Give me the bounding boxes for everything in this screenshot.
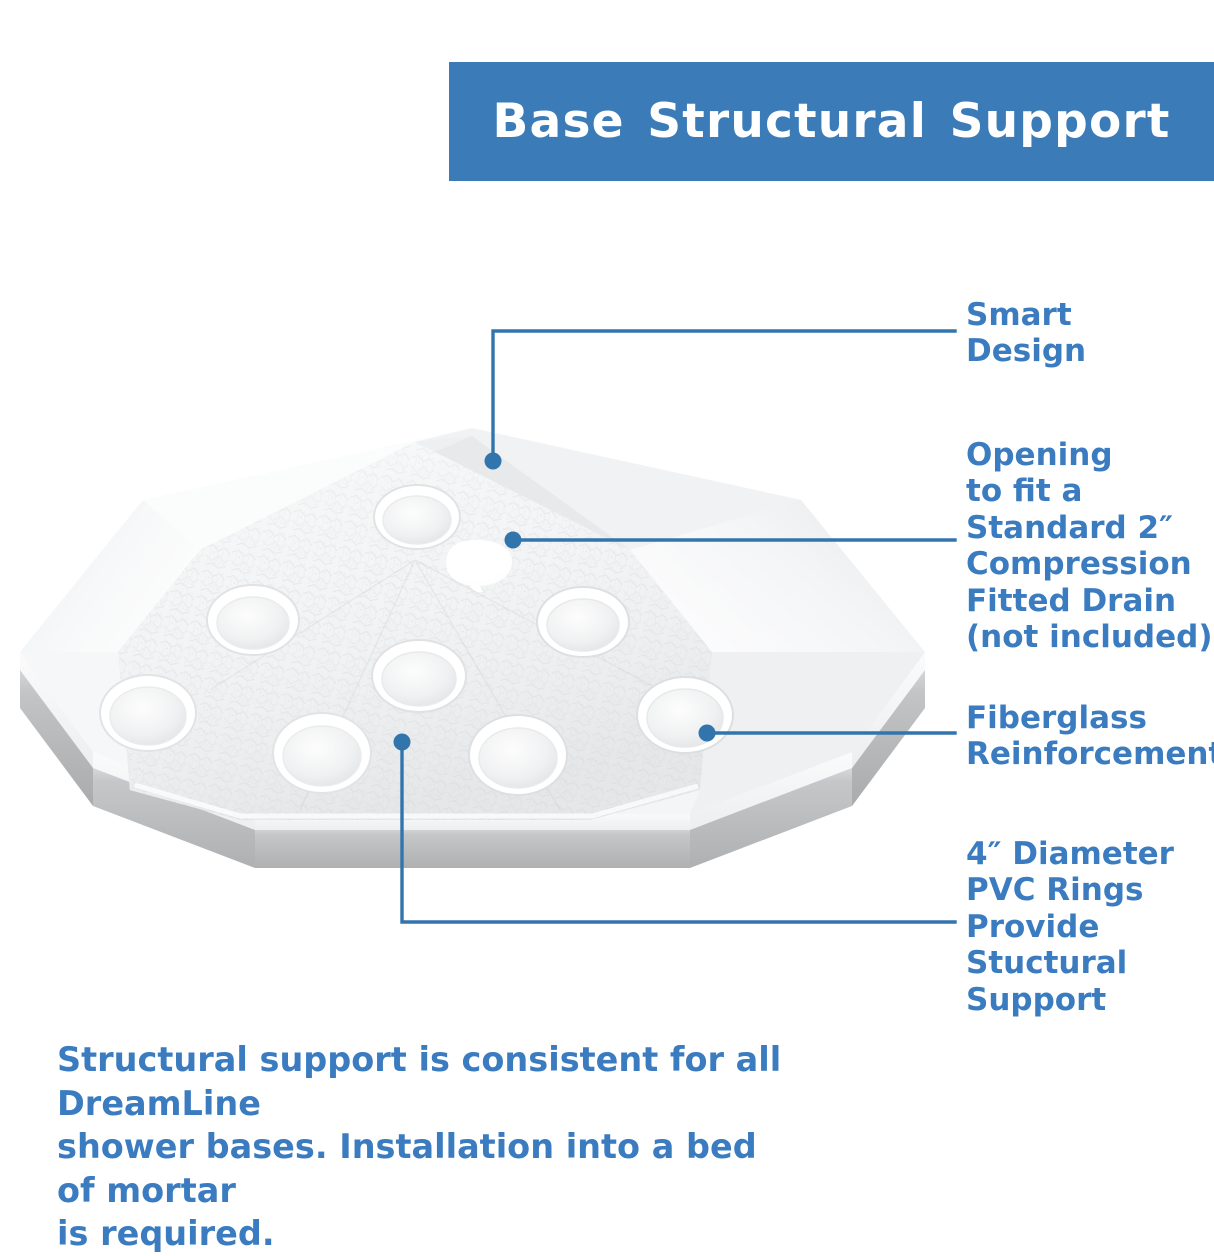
product-illustration (0, 390, 960, 890)
pvc-ring-upper-right (537, 587, 629, 657)
callout-label-pvc-rings: 4″ Diameter PVC Rings Provide Stuctural … (966, 836, 1174, 1018)
callout-label-smart-design: Smart Design (966, 297, 1086, 370)
header-banner: Base Structural Support (449, 62, 1214, 181)
page-title: Base Structural Support (493, 98, 1171, 145)
callout-label-fiberglass: Fiberglass Reinforcement (966, 700, 1214, 773)
pvc-ring-front-right (469, 715, 567, 795)
callout-label-drain-opening: Opening to fit a Standard 2″ Compression… (966, 437, 1213, 656)
footer-note: Structural support is consistent for all… (57, 1038, 797, 1256)
pvc-ring-upper-left (207, 585, 299, 655)
pvc-ring-mid-left (100, 675, 196, 751)
pvc-ring-mid-right (637, 677, 733, 753)
pvc-ring-front-left (273, 713, 371, 793)
pvc-ring-center (372, 640, 466, 712)
pvc-ring-top (374, 485, 460, 549)
